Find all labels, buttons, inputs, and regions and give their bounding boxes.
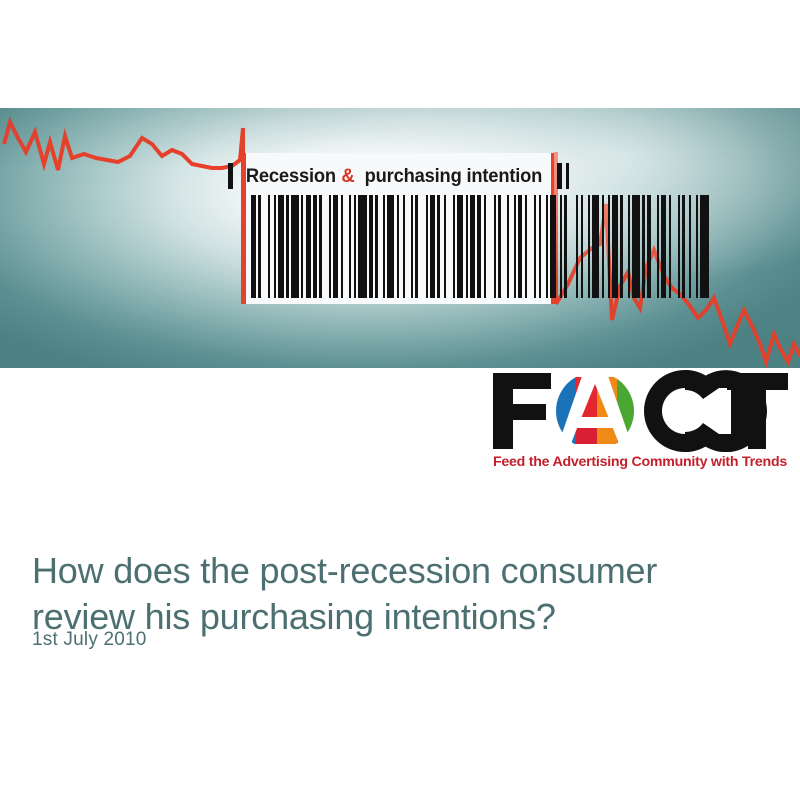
barcode-bar (486, 195, 494, 298)
page-date: 1st July 2010 (32, 629, 147, 651)
barcode-caption-text-2: purchasing intention (364, 165, 542, 188)
fact-logo-mark (489, 370, 789, 452)
barcode-bar (700, 195, 709, 298)
slide-root: Recession & purchasing intention (0, 0, 800, 800)
barcode-bar (446, 195, 453, 298)
barcode-bar (358, 195, 367, 298)
barcode-graphic: Recession & purchasing intention (243, 153, 554, 304)
barcode-bar (387, 195, 394, 298)
barcode-bar (418, 195, 426, 298)
barcode-guard-bar (228, 163, 233, 189)
barcode-bar (322, 195, 329, 298)
page-title-line-1: How does the post-recession consumer (32, 548, 762, 594)
barcode-bar (261, 195, 268, 298)
barcode-bar (671, 195, 678, 298)
barcode-caption: Recession & purchasing intention (243, 161, 554, 191)
barcode-bar (567, 195, 576, 298)
logo-letter-a (556, 371, 637, 452)
logo-letter-f (493, 373, 551, 449)
barcode-caption-text-1: Recession (246, 165, 336, 188)
barcode-bars (251, 195, 546, 298)
barcode-bar (527, 195, 534, 298)
fact-logo: Feed the Advertising Community with Tren… (489, 370, 789, 478)
chart-line-left (4, 122, 243, 248)
barcode-guard-bar (566, 163, 569, 189)
barcode-bar (291, 195, 299, 298)
barcode-caption-ampersand: & (339, 165, 358, 188)
barcode-guard-bar (557, 163, 562, 189)
page-title: How does the post-recession consumer rev… (32, 548, 762, 640)
barcode-bar (592, 195, 599, 298)
barcode-bar (632, 195, 640, 298)
fact-logo-tagline: Feed the Advertising Community with Tren… (491, 454, 789, 470)
